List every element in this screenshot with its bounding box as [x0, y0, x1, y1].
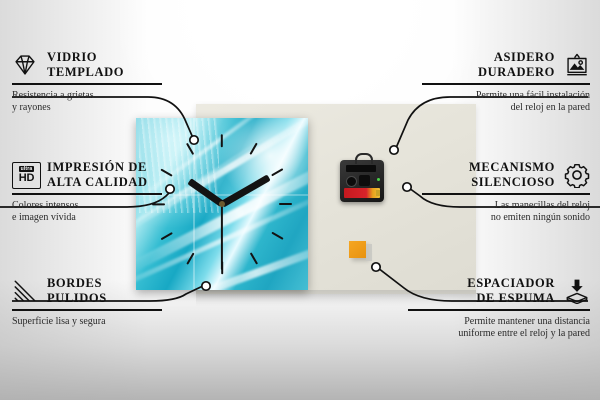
- gear-icon: [564, 162, 590, 188]
- callout-vidrio-templado: VIDRIO TEMPLADO Resistencia a grietas y …: [12, 50, 162, 115]
- callout-title-line1: ASIDERO: [494, 50, 555, 64]
- callout-desc-line1: Permite una fácil instalación: [476, 90, 590, 101]
- foam-spacer-side: [366, 244, 372, 261]
- clock-center-hub: [219, 201, 225, 207]
- callout-heading: VIDRIO TEMPLADO: [12, 50, 162, 79]
- battery-terminal: [376, 190, 380, 196]
- mechanism-slot: [346, 165, 376, 172]
- foam-spacer-icon: [564, 278, 590, 304]
- callout-title: BORDES PULIDOS: [47, 276, 107, 305]
- callout-heading: ASIDERO DURADERO: [422, 50, 590, 79]
- mechanism-indicator: [377, 178, 380, 181]
- callout-desc-line2: uniforme entre el reloj y la pared: [458, 328, 590, 339]
- mechanism-hanger-hook: [355, 153, 373, 164]
- clock-mechanism: [340, 160, 384, 202]
- callout-divider: [12, 83, 162, 85]
- callout-desc-line1: Las manecillas del reloj: [495, 200, 590, 211]
- callout-divider: [408, 309, 590, 311]
- callout-desc-line2: no emiten ningún sonido: [491, 212, 590, 223]
- callout-title-line1: MECANISMO: [469, 160, 555, 174]
- callout-divider: [422, 193, 590, 195]
- callout-asidero-duradero: ASIDERO DURADERO Permite una fácil insta…: [422, 50, 590, 115]
- callout-bordes-pulidos: BORDES PULIDOS Superficie lisa y segura: [12, 276, 162, 328]
- picture-hanger-icon: [564, 52, 590, 78]
- callout-desc-line1: Resistencia a grietas: [12, 90, 94, 101]
- callout-heading: ESPACIADOR DE ESPUMA: [408, 276, 590, 305]
- callout-title-line2: SILENCIOSO: [471, 175, 555, 189]
- callout-desc-line1: Colores intensos: [12, 200, 78, 211]
- callout-desc-line2: e imagen vívida: [12, 212, 76, 223]
- callout-divider: [12, 193, 162, 195]
- callout-description: Permite una fácil instalación del reloj …: [422, 90, 590, 115]
- callout-title-line1: BORDES: [47, 276, 102, 290]
- callout-desc-line2: del reloj en la pared: [511, 102, 590, 113]
- callout-heading: BORDES PULIDOS: [12, 276, 162, 305]
- callout-title-line1: VIDRIO: [47, 50, 97, 64]
- callout-title: ASIDERO DURADERO: [478, 50, 555, 79]
- callout-title-line2: ALTA CALIDAD: [47, 175, 148, 189]
- callout-heading: ultra HD IMPRESIÓN DE ALTA CALIDAD: [12, 160, 162, 189]
- callout-title: MECANISMO SILENCIOSO: [469, 160, 555, 189]
- callout-heading: MECANISMO SILENCIOSO: [422, 160, 590, 189]
- callout-impresion-alta-calidad: ultra HD IMPRESIÓN DE ALTA CALIDAD Color…: [12, 160, 162, 225]
- callout-description: Permite mantener una distancia uniforme …: [408, 316, 590, 341]
- callout-desc-line2: y rayones: [12, 102, 51, 113]
- mechanism-dial: [346, 176, 357, 187]
- callout-divider: [422, 83, 590, 85]
- hd-badge-large: HD: [19, 173, 35, 184]
- callout-title: VIDRIO TEMPLADO: [47, 50, 124, 79]
- hd-badge: ultra HD: [12, 162, 41, 189]
- callout-desc-line1: Superficie lisa y segura: [12, 316, 106, 327]
- mechanism-dial-secondary: [359, 175, 370, 186]
- diamond-icon: [12, 52, 38, 78]
- ultra-hd-badge-icon: ultra HD: [12, 162, 38, 188]
- mechanism-battery: [344, 188, 380, 198]
- callout-title-line1: ESPACIADOR: [467, 276, 555, 290]
- callout-divider: [12, 309, 162, 311]
- callout-title-line2: PULIDOS: [47, 291, 107, 305]
- callout-mecanismo-silencioso: MECANISMO SILENCIOSO Las manecillas del …: [422, 160, 590, 225]
- callout-title-line2: TEMPLADO: [47, 65, 124, 79]
- clock-second-hand: [221, 204, 223, 270]
- callout-title-line2: DE ESPUMA: [476, 291, 555, 305]
- callout-title: ESPACIADOR DE ESPUMA: [467, 276, 555, 305]
- polished-edge-icon: [12, 278, 38, 304]
- callout-title-line1: IMPRESIÓN DE: [47, 160, 147, 174]
- callout-title-line2: DURADERO: [478, 65, 555, 79]
- callout-description: Resistencia a grietas y rayones: [12, 90, 162, 115]
- callout-espaciador-de-espuma: ESPACIADOR DE ESPUMA Permite mantener un…: [408, 276, 590, 341]
- callout-description: Colores intensos e imagen vívida: [12, 200, 162, 225]
- callout-description: Las manecillas del reloj no emiten ningú…: [422, 200, 590, 225]
- foam-spacer-piece: [349, 241, 366, 258]
- callout-title: IMPRESIÓN DE ALTA CALIDAD: [47, 160, 148, 189]
- callout-desc-line1: Permite mantener una distancia: [464, 316, 590, 327]
- infographic-root: VIDRIO TEMPLADO Resistencia a grietas y …: [0, 0, 600, 400]
- callout-description: Superficie lisa y segura: [12, 316, 162, 329]
